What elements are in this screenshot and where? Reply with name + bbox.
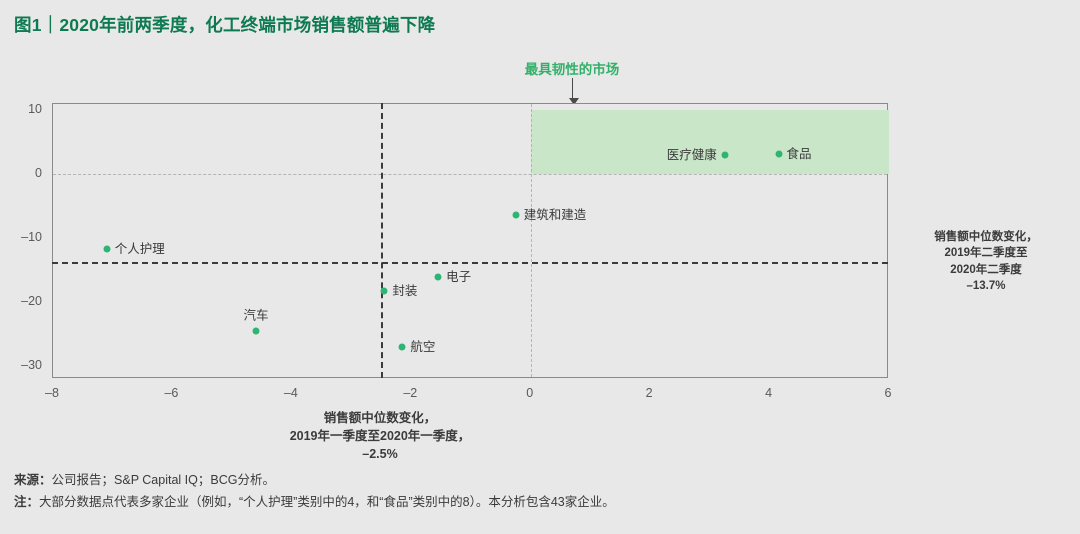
y-tick-label: 0 (0, 166, 42, 180)
x-tick-label: –6 (164, 386, 178, 400)
median-line-horizontal (52, 262, 888, 264)
data-point-label: 封装 (392, 285, 417, 298)
data-point (435, 273, 442, 280)
highlight-region (531, 110, 889, 174)
x-axis-title-line2: 2019年一季度至2020年一季度， (240, 427, 520, 445)
y-tick-label: –20 (0, 294, 42, 308)
y-tick-label: –10 (0, 230, 42, 244)
zero-line-vertical (531, 104, 532, 377)
y-tick-label: 10 (0, 102, 42, 116)
y-axis-title-line2: 2019年二季度至 (896, 245, 1076, 261)
page-title: 图1｜2020年前两季度，化工终端市场销售额普遍下降 (14, 12, 435, 37)
data-point-label: 食品 (787, 148, 812, 161)
callout-label: 最具韧性的市场 (447, 58, 697, 78)
x-tick-label: 4 (765, 386, 772, 400)
y-axis-title-line1: 销售额中位数变化， (896, 229, 1076, 245)
source-label: 来源： (14, 473, 52, 487)
source-text: 公司报告；S&P Capital IQ；BCG分析。 (52, 473, 275, 487)
data-point (775, 150, 782, 157)
data-point (512, 211, 519, 218)
x-axis-title-line1: 销售额中位数变化， (240, 409, 520, 427)
x-tick-label: 0 (526, 386, 533, 400)
data-point (103, 246, 110, 253)
y-axis-title-line4: –13.7% (896, 278, 1076, 294)
data-point (399, 344, 406, 351)
y-axis-title: 销售额中位数变化， 2019年二季度至 2020年二季度 –13.7% (896, 229, 1076, 294)
note-text: 大部分数据点代表多家企业（例如，“个人护理”类别中的4，和“食品”类别中的8）。… (39, 495, 615, 509)
data-point (721, 152, 728, 159)
data-point (253, 328, 260, 335)
x-tick-label: –2 (403, 386, 417, 400)
zero-line-horizontal (53, 174, 887, 175)
data-point-label: 医疗健康 (667, 149, 717, 162)
data-point-label: 个人护理 (115, 243, 165, 256)
note-line: 注：大部分数据点代表多家企业（例如，“个人护理”类别中的4，和“食品”类别中的8… (14, 492, 615, 514)
scatter-plot-area: 医疗健康食品建筑和建造个人护理电子封装汽车航空 (52, 103, 888, 378)
x-axis-title-line3: –2.5% (240, 445, 520, 463)
footnotes: 来源：公司报告；S&P Capital IQ；BCG分析。 注：大部分数据点代表… (14, 470, 615, 513)
median-line-vertical (381, 103, 383, 378)
data-point (381, 288, 388, 295)
x-tick-label: –4 (284, 386, 298, 400)
x-tick-label: 6 (885, 386, 892, 400)
x-tick-label: 2 (646, 386, 653, 400)
source-line: 来源：公司报告；S&P Capital IQ；BCG分析。 (14, 470, 615, 492)
y-axis-title-line3: 2020年二季度 (896, 262, 1076, 278)
note-label: 注： (14, 495, 39, 509)
resilient-markets-callout: 最具韧性的市场 (447, 58, 697, 78)
x-tick-label: –8 (45, 386, 59, 400)
x-axis-title: 销售额中位数变化， 2019年一季度至2020年一季度， –2.5% (240, 409, 520, 463)
y-tick-label: –30 (0, 358, 42, 372)
data-point-label: 建筑和建造 (524, 208, 587, 221)
down-arrow-icon (572, 78, 573, 98)
data-point-label: 电子 (446, 270, 471, 283)
data-point-label: 航空 (410, 341, 435, 354)
data-point-label: 汽车 (244, 310, 269, 323)
